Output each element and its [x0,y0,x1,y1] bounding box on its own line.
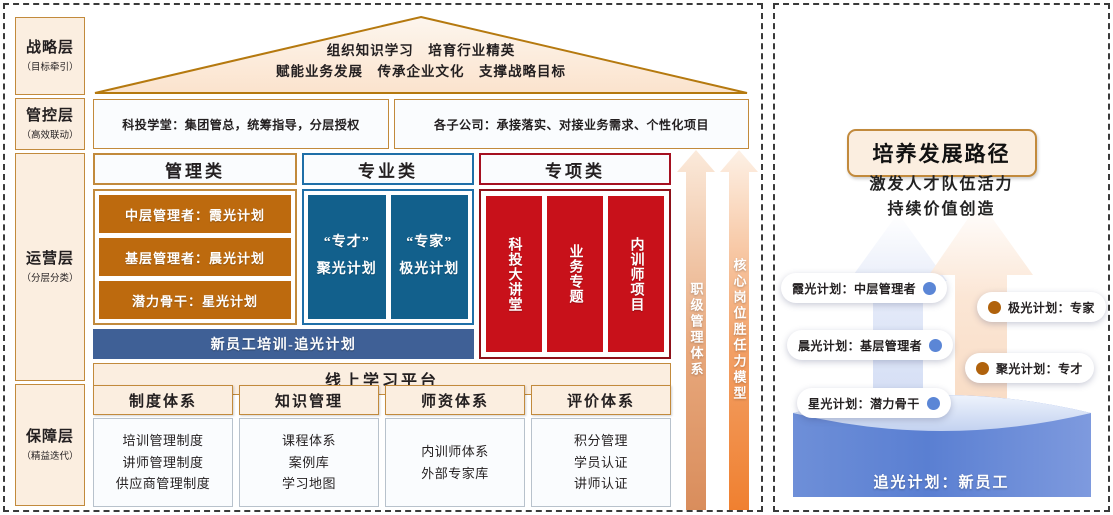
vertical-arrow-label: 职级管理体系 [677,150,715,510]
new-employee-band[interactable]: 新员工培训-追光计划 [93,329,474,359]
left-panel-training-system: 战略层 （目标牵引） 管控层 （高效联动） 运营层 （分层分类） 保障层 （精益… [3,3,763,512]
management-item[interactable]: 基层管理者：晨光计划 [99,238,291,276]
guarantee-column-knowledge: 知识管理 课程体系 案例库 学习地图 [239,385,379,507]
tier-label-strategy: 战略层 （目标牵引） [15,17,85,95]
professional-item-line-1: “专才” [324,230,370,257]
special-item[interactable]: 科投大讲堂 [486,196,542,352]
professional-item-zhuanjia[interactable]: “专家” 极光计划 [391,195,469,319]
development-path-artwork [775,5,1108,510]
subtitle-line-1: 激发人才队伍活力 [775,173,1108,198]
development-path-subtitle: 激发人才队伍活力 持续价值创造 [775,173,1108,223]
special-item[interactable]: 内训师项目 [608,196,664,352]
blue-dot-icon [923,282,936,295]
category-header-management[interactable]: 管理类 [93,153,297,185]
professional-item-zhuancai[interactable]: “专才” 聚光计划 [308,195,386,319]
tier-name: 管控层 [26,107,74,126]
guarantee-header[interactable]: 评价体系 [531,385,671,415]
governance-box-subsidiary[interactable]: 各子公司：承接落实、对接业务需求、个性化项目 [394,99,749,149]
guarantee-item: 讲师认证 [574,473,628,494]
guarantee-header[interactable]: 知识管理 [239,385,379,415]
roof-slogan-line-1: 组织知识学习 培育行业精英 [93,41,749,62]
tier-name: 战略层 [26,39,74,58]
guarantee-item: 积分管理 [574,430,628,451]
management-group: 中层管理者：霞光计划 基层管理者：晨光计划 潜力骨干：星光计划 [93,189,297,325]
management-item[interactable]: 中层管理者：霞光计划 [99,195,291,233]
guarantee-layer: 制度体系 培训管理制度 讲师管理制度 供应商管理制度 知识管理 课程体系 案例库… [93,385,671,507]
guarantee-item: 外部专家库 [421,463,489,484]
path-tag-xiaguang[interactable]: 霞光计划：中层管理者 [781,273,947,303]
governance-box-group[interactable]: 科投学堂：集团管总，统筹指导，分层授权 [93,99,389,149]
tier-name: 运营层 [26,250,74,269]
tier-name: 保障层 [26,428,74,447]
tier-note: （目标牵引） [21,59,78,73]
special-item[interactable]: 业务专题 [547,196,603,352]
vertical-arrow-rank-system[interactable]: 职级管理体系 [677,150,715,510]
path-tag-label: 霞光计划：中层管理者 [792,280,916,297]
path-tag-label: 极光计划：专家 [1008,299,1095,316]
guarantee-item: 课程体系 [282,430,336,451]
vertical-arrow-competency-model[interactable]: 核心岗位胜任力模型 [720,150,758,510]
professional-item-line-2: 聚光计划 [317,257,377,284]
vertical-arrow-label: 核心岗位胜任力模型 [720,150,758,510]
orange-dot-icon [976,362,989,375]
right-panel-development-path: 培养发展路径 激发人才队伍活力 持续价值创造 霞光计划：中层管理者 晨光计划：基… [773,3,1110,512]
guarantee-header[interactable]: 制度体系 [93,385,233,415]
special-group: 科投大讲堂 业务专题 内训师项目 [479,189,671,359]
tier-note: （精益迭代） [21,448,78,462]
tier-note: （分层分类） [21,270,78,284]
guarantee-column-system: 制度体系 培训管理制度 讲师管理制度 供应商管理制度 [93,385,233,507]
professional-group: “专才” 聚光计划 “专家” 极光计划 [302,189,474,325]
roof-slogan: 组织知识学习 培育行业精英 赋能业务发展 传承企业文化 支撑战略目标 [93,41,749,83]
category-header-professional[interactable]: 专业类 [302,153,474,185]
tier-note: （高效联动） [21,127,78,141]
blue-dot-icon [927,397,940,410]
guarantee-item: 内训师体系 [421,441,489,462]
blue-dot-icon [929,339,942,352]
path-tag-jiguang[interactable]: 极光计划：专家 [977,292,1106,322]
guarantee-item: 学员认证 [574,452,628,473]
professional-item-line-2: 极光计划 [399,257,459,284]
governance-row: 科投学堂：集团管总，统筹指导，分层授权 各子公司：承接落实、对接业务需求、个性化… [93,99,749,149]
roof-shape: 组织知识学习 培育行业精英 赋能业务发展 传承企业文化 支撑战略目标 [93,15,749,95]
guarantee-body: 积分管理 学员认证 讲师认证 [531,418,671,507]
category-header-special[interactable]: 专项类 [479,153,671,185]
subtitle-line-2: 持续价值创造 [775,198,1108,223]
operation-layer: 管理类 专业类 专项类 中层管理者：霞光计划 基层管理者：晨光计划 潜力骨干：星… [93,153,671,381]
guarantee-body: 内训师体系 外部专家库 [385,418,525,507]
tier-label-governance: 管控层 （高效联动） [15,98,85,150]
roof-slogan-line-2: 赋能业务发展 传承企业文化 支撑战略目标 [93,62,749,83]
path-tag-chenguang[interactable]: 晨光计划：基层管理者 [787,330,953,360]
guarantee-item: 学习地图 [282,473,336,494]
path-tag-label: 星光计划：潜力骨干 [808,395,920,412]
guarantee-body: 培训管理制度 讲师管理制度 供应商管理制度 [93,418,233,507]
orange-dot-icon [988,301,1001,314]
tier-label-operation: 运营层 （分层分类） [15,153,85,381]
path-tag-juguang[interactable]: 聚光计划：专才 [965,353,1094,383]
guarantee-item: 案例库 [289,452,330,473]
path-tag-xingguang[interactable]: 星光计划：潜力骨干 [797,388,951,418]
path-tag-label: 晨光计划：基层管理者 [798,337,922,354]
path-tag-label: 聚光计划：专才 [996,360,1083,377]
guarantee-item: 培训管理制度 [122,430,203,451]
guarantee-body: 课程体系 案例库 学习地图 [239,418,379,507]
slide-canvas: 战略层 （目标牵引） 管控层 （高效联动） 运营层 （分层分类） 保障层 （精益… [0,0,1113,515]
management-item[interactable]: 潜力骨干：星光计划 [99,281,291,319]
guarantee-column-faculty: 师资体系 内训师体系 外部专家库 [385,385,525,507]
tier-label-guarantee: 保障层 （精益迭代） [15,384,85,506]
professional-item-line-1: “专家” [406,230,452,257]
guarantee-header[interactable]: 师资体系 [385,385,525,415]
guarantee-item: 供应商管理制度 [116,473,211,494]
guarantee-item: 讲师管理制度 [122,452,203,473]
development-path-title: 培养发展路径 [847,129,1037,177]
guarantee-column-evaluation: 评价体系 积分管理 学员认证 讲师认证 [531,385,671,507]
base-label-zhuiguang: 追光计划：新员工 [775,471,1108,492]
